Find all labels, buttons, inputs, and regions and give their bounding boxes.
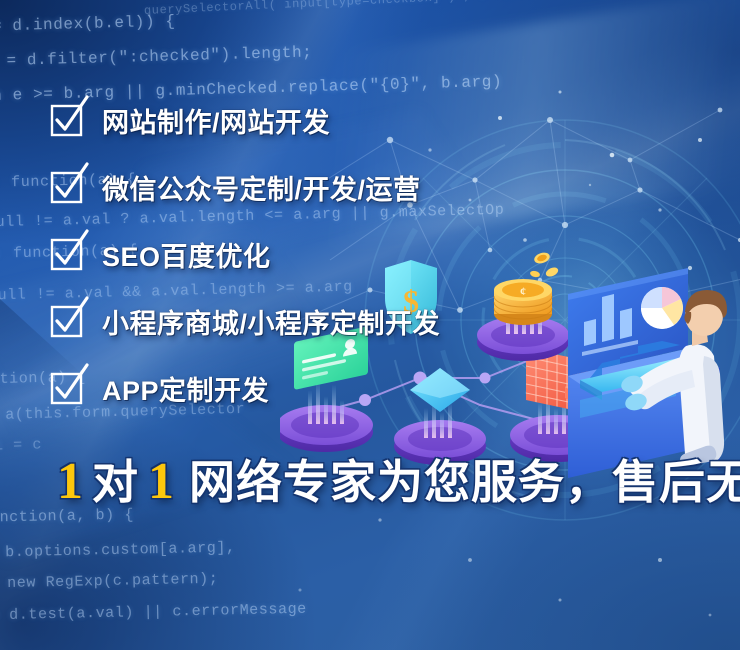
tagline-word-dui: 对 [92,459,139,505]
checked-checkbox-icon[interactable] [52,239,82,269]
feature-row[interactable]: APP定制开发 [52,364,692,412]
feature-row[interactable]: 网站制作/网站开发 [52,96,692,144]
feature-list: 网站制作/网站开发 微信公众号定制/开发/运营 SEO百度优化 [52,96,692,431]
feature-label: SEO百度优化 [102,235,271,274]
feature-label: 网站制作/网站开发 [102,101,330,140]
checked-checkbox-icon[interactable] [52,306,82,336]
checked-checkbox-icon[interactable] [52,105,82,135]
promo-banner: querySelectorAll( input[type=checkbox] )… [0,0,740,650]
feature-label: 微信公众号定制/开发/运营 [102,168,421,207]
feature-row[interactable]: 小程序商城/小程序定制开发 [52,297,692,345]
feature-row[interactable]: SEO百度优化 [52,230,692,278]
feature-label: 小程序商城/小程序定制开发 [102,302,440,341]
checked-checkbox-icon[interactable] [52,172,82,202]
feature-label: APP定制开发 [102,369,269,408]
tagline-number-one-first: 1 [48,452,92,511]
tagline-number-one-second: 1 [139,452,183,511]
checked-checkbox-icon[interactable] [52,373,82,403]
tagline: 1 对 1 网络专家为您服务，售后无忧！ [48,452,740,511]
feature-row[interactable]: 微信公众号定制/开发/运营 [52,163,692,211]
tagline-main-text: 网络专家为您服务，售后无忧！ [183,459,740,505]
